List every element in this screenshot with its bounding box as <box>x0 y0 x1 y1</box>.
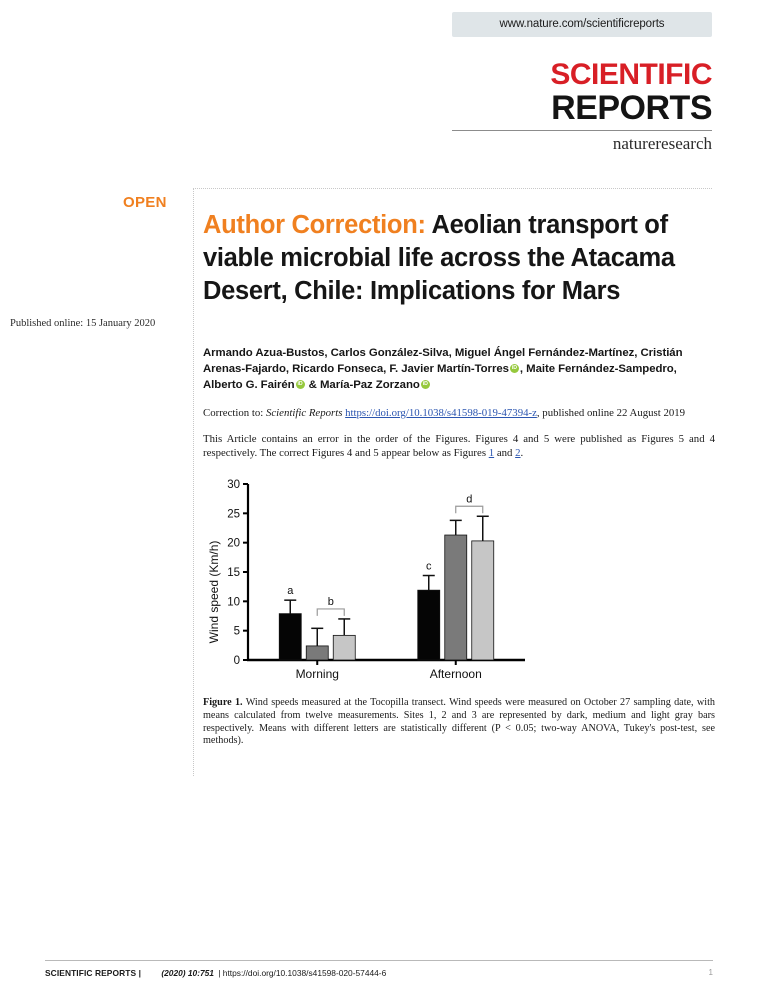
dotted-rule-top <box>193 188 712 189</box>
svg-text:20: 20 <box>227 538 240 550</box>
correction-journal-name: Scientific Reports <box>266 407 342 419</box>
svg-text:15: 15 <box>227 567 240 579</box>
footer-divider <box>45 960 713 961</box>
page-title: Author Correction: Aeolian transport of … <box>203 209 703 308</box>
published-online-date: Published online: 15 January 2020 <box>10 318 155 329</box>
chart-x-tick-labels: MorningAfternoon <box>296 660 482 681</box>
dotted-rule-left <box>193 188 194 776</box>
chart-y-ticks: 051015202530 <box>227 479 248 667</box>
chart-bars <box>279 535 494 660</box>
journal-logo: SCIENTIFIC REPORTS natureresearch <box>452 60 712 154</box>
title-correction-prefix: Author Correction: <box>203 211 426 239</box>
author-list: Armando Azua-Bustos, Carlos González-Sil… <box>203 345 693 393</box>
svg-text:Morning: Morning <box>296 667 339 681</box>
figure-caption-text: Wind speeds measured at the Tocopilla tr… <box>203 697 715 746</box>
figure-caption: Figure 1. Wind speeds measured at the To… <box>203 697 715 748</box>
correction-body: This Article contains an error in the or… <box>203 433 715 460</box>
svg-text:10: 10 <box>227 596 240 608</box>
figure-1: Wind speed (Km/h) 051015202530 abcd Morn… <box>203 472 533 687</box>
footer-volume: (2020) 10:751 <box>161 968 214 978</box>
svg-text:0: 0 <box>234 655 240 667</box>
svg-text:5: 5 <box>234 626 240 638</box>
original-doi-link[interactable]: https://doi.org/10.1038/s41598-019-47394… <box>345 407 537 419</box>
logo-natureresearch: natureresearch <box>452 134 712 154</box>
correction-to-label: Correction to: <box>203 407 266 419</box>
correction-body-conjunction: and <box>494 447 515 459</box>
orcid-icon[interactable] <box>421 380 430 389</box>
journal-url-text: www.nature.com/scientificreports <box>452 12 712 37</box>
svg-text:d: d <box>466 493 472 505</box>
orcid-icon[interactable] <box>510 364 519 373</box>
page-number: 1 <box>709 968 713 977</box>
svg-text:a: a <box>287 585 294 597</box>
logo-scientific: SCIENTIFIC <box>452 60 712 90</box>
figure-caption-label: Figure 1. <box>203 697 243 708</box>
correction-body-text: This Article contains an error in the or… <box>203 433 715 459</box>
svg-text:25: 25 <box>227 508 240 520</box>
chart-y-axis-label: Wind speed (Km/h) <box>207 541 221 644</box>
svg-text:b: b <box>328 596 334 608</box>
footer-journal-name: SCIENTIFIC REPORTS | <box>45 968 141 978</box>
svg-text:c: c <box>426 561 432 573</box>
authors-segment-3: & María-Paz Zorzano <box>306 379 420 391</box>
logo-reports: REPORTS <box>452 91 712 125</box>
correction-body-period: . <box>521 447 524 459</box>
orcid-icon[interactable] <box>296 380 305 389</box>
logo-divider <box>452 130 712 131</box>
open-access-badge: OPEN <box>123 194 167 211</box>
svg-text:Afternoon: Afternoon <box>430 667 482 681</box>
svg-text:30: 30 <box>227 479 240 491</box>
correction-reference: Correction to: Scientific Reports https:… <box>203 406 713 420</box>
page-footer: 1 SCIENTIFIC REPORTS | (2020) 10:751 | h… <box>45 968 713 978</box>
correction-publish-date: , published online 22 August 2019 <box>537 407 685 419</box>
journal-url-bar: www.nature.com/scientificreports <box>452 12 712 37</box>
footer-doi: | https://doi.org/10.1038/s41598-020-574… <box>218 968 386 978</box>
bar-chart: Wind speed (Km/h) 051015202530 abcd Morn… <box>203 472 533 687</box>
